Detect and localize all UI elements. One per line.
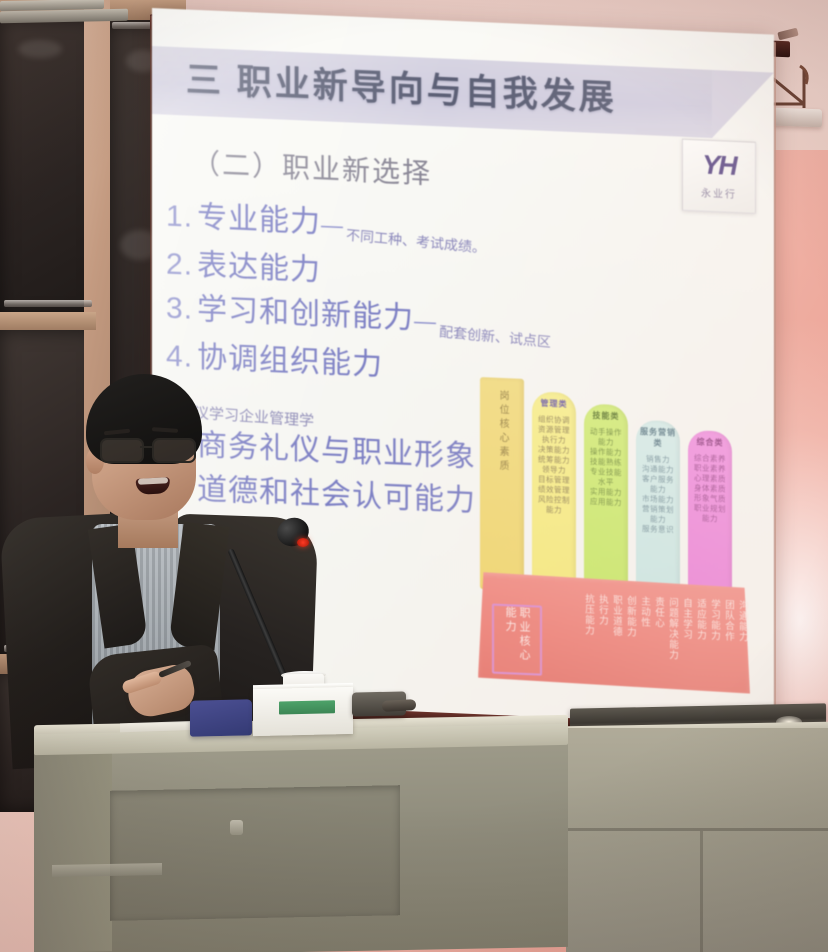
podium-recess bbox=[110, 785, 400, 921]
bullet-text: 表达能力 bbox=[197, 249, 321, 287]
bullet-number: 2. bbox=[166, 248, 193, 282]
lens bbox=[100, 438, 144, 463]
bullet-number: 3. bbox=[166, 292, 193, 326]
bullet-text: 专业能力 bbox=[197, 201, 321, 239]
diagram-column: 岗位核心素质 bbox=[480, 377, 524, 591]
diagram-column: 管理类 组织协调资源管理执行力决策能力统筹能力领导力目标管理绩效管理风险控制能力 bbox=[532, 391, 576, 593]
slide-section-title: 三 职业新导向与自我发展 bbox=[186, 49, 716, 134]
chalk-smudge bbox=[18, 40, 62, 58]
base-term: 适应能力 bbox=[695, 598, 706, 690]
blue-folder bbox=[190, 699, 252, 736]
microphone-led-indicator bbox=[297, 538, 309, 547]
diagram-column: 技能类 动手操作能力操作能力技能熟练专业技能水平实用能力应用能力 bbox=[584, 403, 628, 595]
logo-mark: YH bbox=[702, 152, 736, 180]
diagram-column-head: 管理类 bbox=[532, 397, 576, 410]
podium-shelf bbox=[52, 863, 162, 877]
tissue-box bbox=[253, 687, 353, 736]
diagram-column: 服务营销类 销售力沟通能力客户服务能力市场能力营销策划能力服务意识 bbox=[636, 420, 680, 598]
cabinet-seam bbox=[700, 831, 703, 952]
bullet-text: 学习和创新能力 bbox=[197, 293, 414, 335]
competency-diagram: 岗位核心素质 管理类 组织协调资源管理执行力决策能力统筹能力领导力目标管理绩效管… bbox=[474, 377, 756, 709]
bullet-dash: — bbox=[321, 212, 344, 238]
diagram-column-head: 岗位核心素质 bbox=[494, 390, 510, 475]
base-term: 自主学习 bbox=[681, 598, 692, 690]
diagram-column-head: 服务营销类 bbox=[636, 426, 680, 450]
lens bbox=[152, 438, 196, 463]
base-term: 学习能力 bbox=[709, 599, 720, 691]
av-cabinet bbox=[566, 728, 828, 952]
diagram-column: 综合类 综合素养职业素养心理素质身体素质形象气质职业规划能力 bbox=[688, 430, 732, 600]
diagram-column-items: 组织协调资源管理执行力决策能力统筹能力领导力目标管理绩效管理风险控制能力 bbox=[537, 414, 571, 515]
base-term: 问题解决能力 bbox=[667, 597, 678, 689]
bullet-number: 1. bbox=[166, 200, 193, 234]
organization-logo: YH 永业行 bbox=[682, 139, 756, 214]
base-term: 抗压能力 bbox=[583, 593, 594, 685]
base-term: 执行力 bbox=[597, 594, 608, 686]
podium-knob[interactable] bbox=[230, 820, 243, 835]
lecture-photo-scene: 三 职业新导向与自我发展 （二）职业新选择 1.专业能力—不同工种、考试成绩。 … bbox=[0, 0, 828, 952]
podium-side bbox=[34, 745, 112, 952]
desk-accessory bbox=[382, 699, 417, 712]
base-term: 职业道德 bbox=[611, 595, 622, 687]
diagram-column-items: 动手操作能力操作能力技能熟练专业技能水平实用能力应用能力 bbox=[589, 427, 623, 508]
slide-subheading: （二）职业新选择 bbox=[192, 142, 432, 192]
logo-name: 永业行 bbox=[701, 184, 737, 201]
board-frame bbox=[0, 312, 96, 330]
diagram-column-items: 综合素养职业素养心理素质身体素质形象气质职业规划能力 bbox=[693, 453, 727, 524]
base-term: 团队合作 bbox=[723, 599, 734, 691]
bullet-dash: — bbox=[414, 308, 437, 334]
base-term: 主动性 bbox=[639, 596, 650, 688]
podium bbox=[0, 700, 568, 952]
eyeglasses-icon bbox=[100, 438, 196, 460]
base-term: 沟通能力 bbox=[737, 600, 748, 692]
diagram-column-head: 技能类 bbox=[584, 409, 628, 422]
base-term: 创新能力 bbox=[625, 595, 636, 687]
base-term: 责任心 bbox=[653, 596, 664, 688]
diagram-column-head: 综合类 bbox=[688, 436, 732, 449]
diagram-base-label: 职业核心能力 bbox=[492, 604, 542, 676]
chalk-rail bbox=[4, 300, 92, 307]
cabinet-seam bbox=[566, 828, 828, 831]
tissue-box-label bbox=[279, 700, 335, 714]
diagram-base-terms: 沟通能力 团队合作 学习能力 适应能力 自主学习 问题解决能力 责任心 主动性 … bbox=[552, 592, 748, 692]
diagram-base-label-text: 职业核心能力 bbox=[503, 606, 531, 673]
diagram-column-items: 销售力沟通能力客户服务能力市场能力营销策划能力服务意识 bbox=[641, 454, 675, 535]
